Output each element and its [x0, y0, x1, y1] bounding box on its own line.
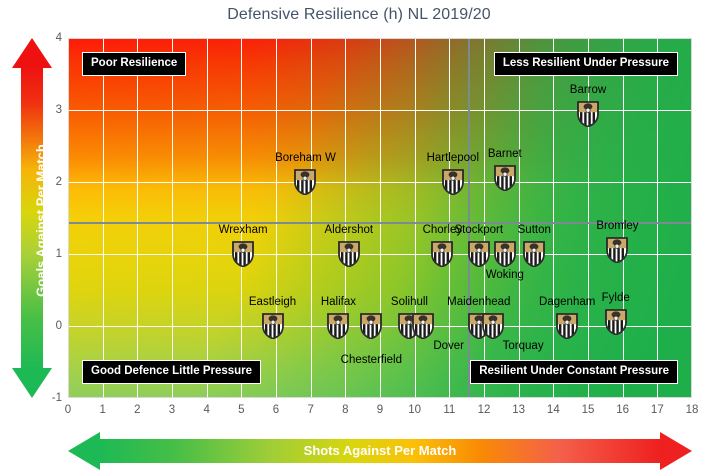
arrow-up-icon — [12, 38, 52, 68]
y-axis-arrow-body: Goals Against Per Match — [21, 66, 43, 370]
x-tick-label: 8 — [332, 404, 358, 416]
x-tick-label: 17 — [644, 404, 670, 416]
x-tick-label: 0 — [55, 404, 81, 416]
x-tick-label: 18 — [679, 404, 705, 416]
x-axis-arrow: Shots Against Per Match — [68, 432, 692, 470]
defensive-resilience-scatter-chart: Defensive Resilience (h) NL 2019/20 Barr… — [0, 0, 718, 476]
x-tick-label: 14 — [540, 404, 566, 416]
y-axis-label: Goals Against Per Match — [34, 69, 49, 373]
x-tick-label: 12 — [471, 404, 497, 416]
x-tick-label: 7 — [298, 404, 324, 416]
x-tick-label: 1 — [90, 404, 116, 416]
x-tick-label: 3 — [159, 404, 185, 416]
x-tick-label: 11 — [436, 404, 462, 416]
x-tick-label: 9 — [367, 404, 393, 416]
x-tick-label: 4 — [194, 404, 220, 416]
x-tick-label: 5 — [228, 404, 254, 416]
arrow-down-icon — [12, 368, 52, 398]
y-axis-arrow: Goals Against Per Match — [12, 38, 52, 398]
x-tick-label: 2 — [124, 404, 150, 416]
x-tick-label: 15 — [575, 404, 601, 416]
x-tick-label: 16 — [610, 404, 636, 416]
x-tick-label: 13 — [506, 404, 532, 416]
x-tick-label: 10 — [402, 404, 428, 416]
x-axis-label: Shots Against Per Match — [68, 443, 692, 458]
x-tick-label: 6 — [263, 404, 289, 416]
